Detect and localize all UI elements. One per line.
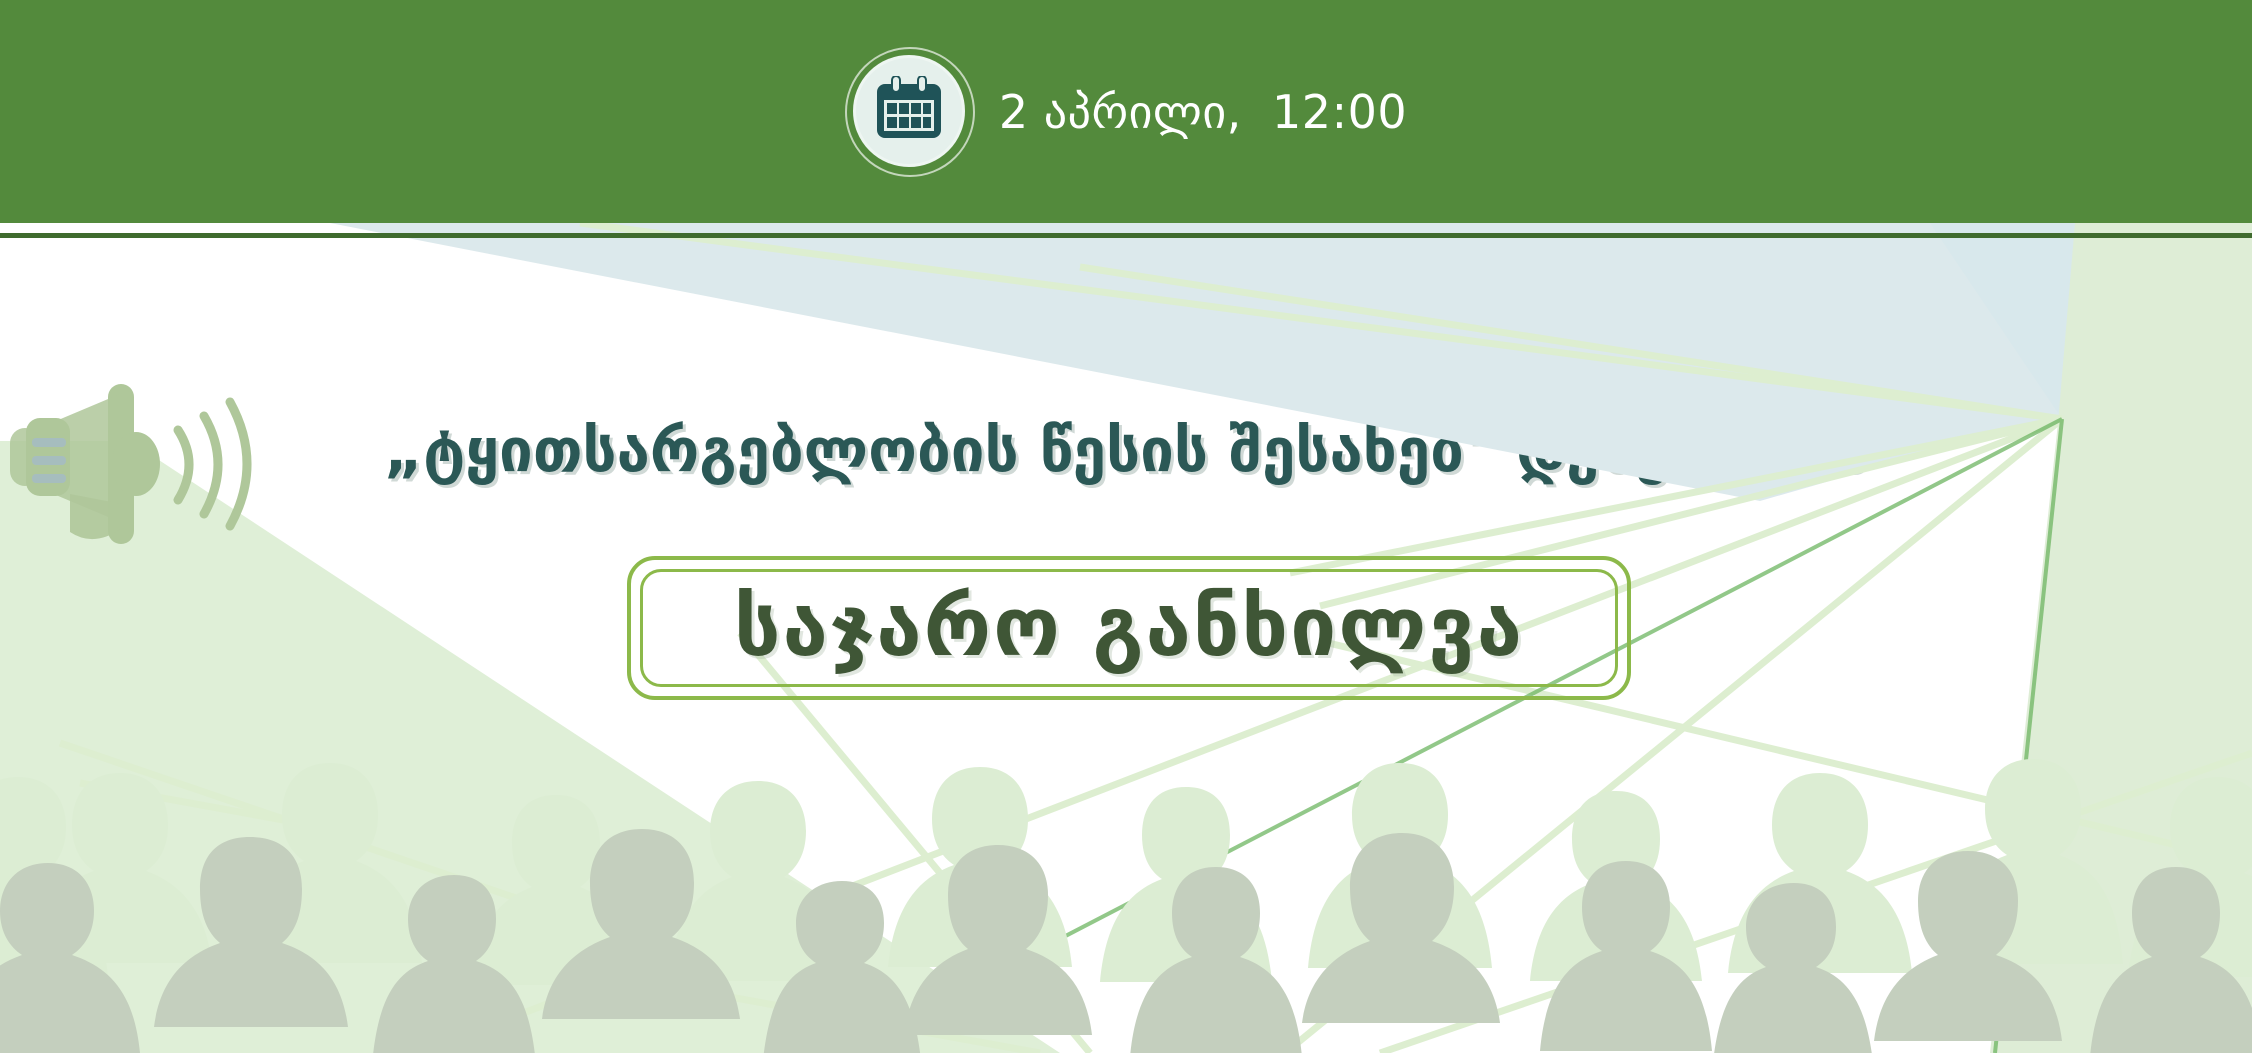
public-hearing-banner: „ტყითსარგებლობის წესის შესახებ" დებულები… [0, 0, 2252, 1053]
header-bar: 2 აპრილი, 12:00 [0, 0, 2252, 223]
plaque-label: საჯარო განხილვა [734, 587, 1524, 669]
megaphone-icon [8, 372, 318, 562]
event-datetime: 2 აპრილი, 12:00 [999, 89, 1407, 135]
decor-blue-wedge-left [330, 223, 2060, 501]
header-rule [0, 233, 2252, 238]
public-hearing-plaque: საჯარო განხილვა [627, 556, 1631, 700]
crowd-back-row [0, 759, 2252, 985]
calendar-badge [845, 47, 975, 177]
plaque-inner-border: საჯარო განხილვა [640, 569, 1618, 687]
crowd-silhouettes [0, 733, 2252, 1053]
calendar-icon [853, 55, 965, 167]
